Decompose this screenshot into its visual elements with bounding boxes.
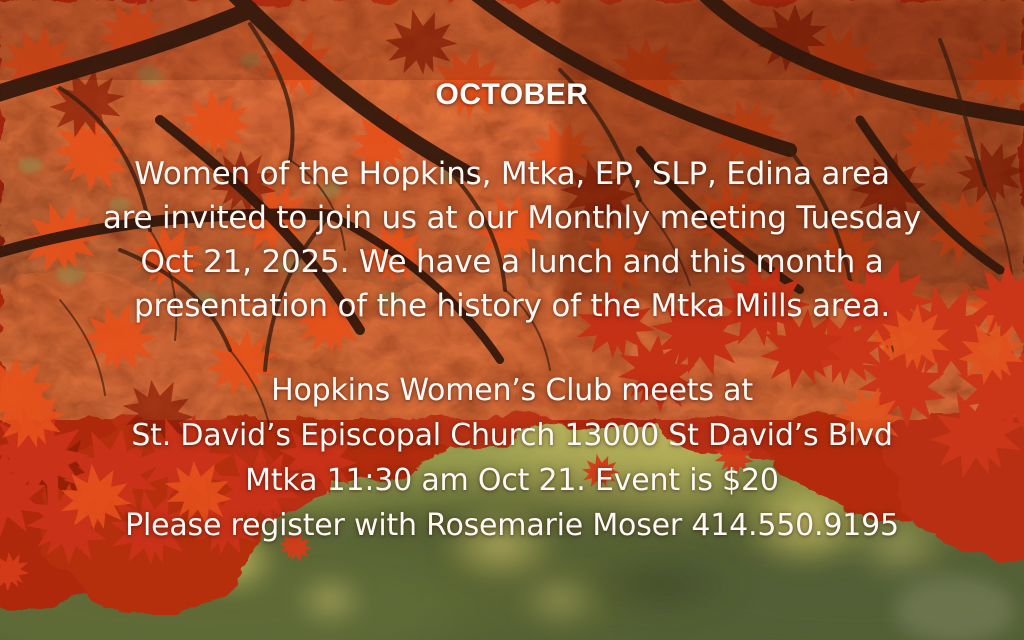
- venue-details-paragraph: Hopkins Women’s Club meets at St. David’…: [0, 368, 1024, 548]
- invitation-line-2: are invited to join us at our Monthly me…: [0, 196, 1024, 240]
- venue-line-2: St. David’s Episcopal Church 13000 St Da…: [0, 413, 1024, 458]
- event-flyer-poster: OCTOBER Women of the Hopkins, Mtka, EP, …: [0, 0, 1024, 640]
- invitation-paragraph: Women of the Hopkins, Mtka, EP, SLP, Edi…: [0, 152, 1024, 328]
- venue-line-3: Mtka 11:30 am Oct 21. Event is $20: [0, 458, 1024, 503]
- flyer-text-layer: OCTOBER Women of the Hopkins, Mtka, EP, …: [0, 0, 1024, 640]
- invitation-line-4: presentation of the history of the Mtka …: [0, 284, 1024, 328]
- venue-line-4: Please register with Rosemarie Moser 414…: [0, 503, 1024, 548]
- invitation-line-1: Women of the Hopkins, Mtka, EP, SLP, Edi…: [0, 152, 1024, 196]
- invitation-line-3: Oct 21, 2025. We have a lunch and this m…: [0, 240, 1024, 284]
- venue-line-1: Hopkins Women’s Club meets at: [0, 368, 1024, 413]
- page-title: OCTOBER: [0, 78, 1024, 112]
